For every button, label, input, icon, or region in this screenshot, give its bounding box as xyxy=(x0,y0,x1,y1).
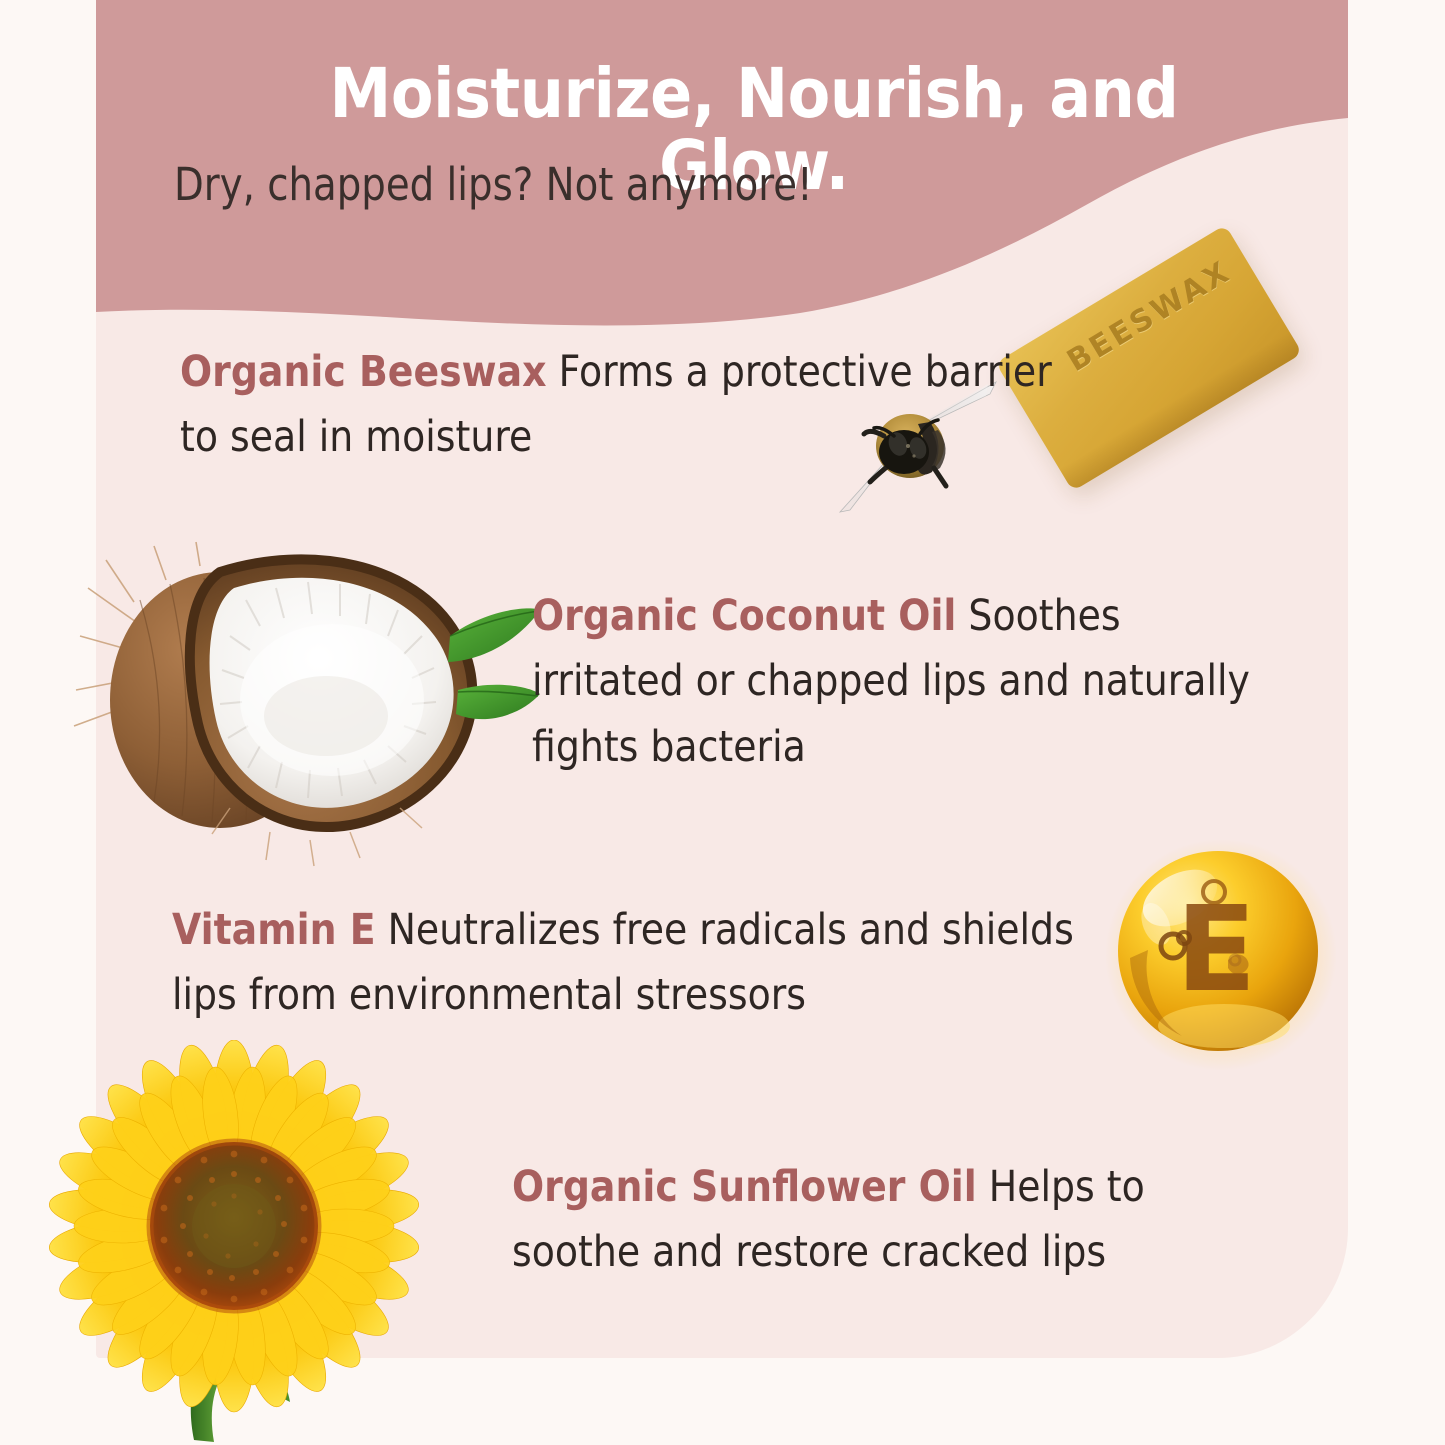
vitamin-e-capsule-icon: E xyxy=(1104,838,1339,1073)
ingredient-name-beeswax: Organic Beeswax xyxy=(180,347,547,397)
ingredient-text-sunflower-oil: Organic Sunflower Oil Helps to soothe an… xyxy=(512,1155,1269,1286)
header-text-group: Moisturize, Nourish, and Glow. Dry, chap… xyxy=(96,0,1348,260)
infographic-canvas: Moisturize, Nourish, and Glow. Dry, chap… xyxy=(0,0,1445,1445)
coconut-icon xyxy=(70,540,540,870)
sunflower-icon xyxy=(18,1040,438,1445)
ingredient-name-coconut-oil: Organic Coconut Oil xyxy=(532,591,956,641)
ingredient-text-coconut-oil: Organic Coconut Oil Soothes irritated or… xyxy=(532,584,1262,780)
ingredient-text-beeswax: Organic Beeswax Forms a protective barri… xyxy=(180,340,1069,471)
vitamin-e-letter: E xyxy=(1176,880,1257,1018)
ingredient-text-vitamin-e: Vitamin E Neutralizes free radicals and … xyxy=(172,898,1114,1029)
ingredient-name-vitamin-e: Vitamin E xyxy=(172,905,376,955)
ingredient-name-sunflower-oil: Organic Sunflower Oil xyxy=(512,1162,977,1212)
page-subtitle: Dry, chapped lips? Not anymore! xyxy=(174,158,1172,211)
